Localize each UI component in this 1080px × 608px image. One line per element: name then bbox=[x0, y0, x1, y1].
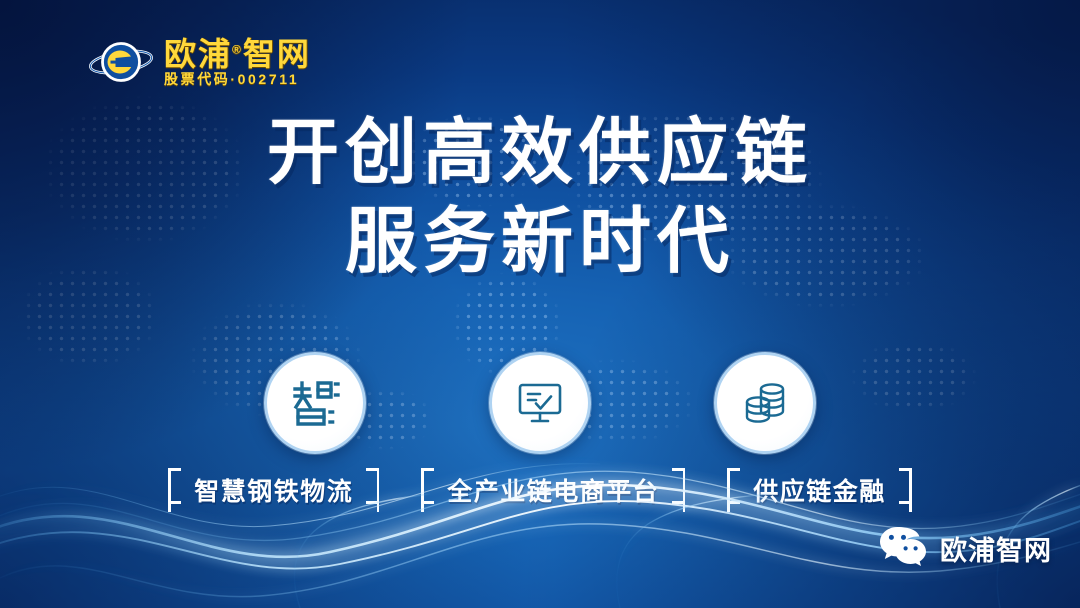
wechat-account[interactable]: 欧浦智网 bbox=[878, 525, 1052, 572]
headline-line-2: 服务新时代 bbox=[0, 205, 1080, 280]
brand-logo-text: 欧浦®智网 股票代码·002711 bbox=[164, 38, 311, 86]
promo-poster: 欧浦®智网 股票代码·002711 开创高效供应链 服务新时代 bbox=[0, 0, 1080, 608]
bracket-left-icon bbox=[727, 468, 742, 512]
wechat-logo-icon bbox=[878, 525, 928, 572]
wechat-account-name: 欧浦智网 bbox=[940, 529, 1052, 568]
brand-logo[interactable]: 欧浦®智网 股票代码·002711 bbox=[88, 34, 311, 90]
registered-mark: ® bbox=[232, 42, 243, 56]
brand-name-part1: 欧浦 bbox=[164, 36, 232, 72]
pillar-icon-circle bbox=[489, 352, 591, 454]
pillar-label-text: 智慧钢铁物流 bbox=[194, 472, 353, 508]
bracket-right-icon bbox=[897, 468, 912, 512]
coin-stack-icon bbox=[739, 377, 791, 429]
pillar-logistics[interactable] bbox=[267, 352, 363, 454]
headline-line-1: 开创高效供应链 bbox=[0, 116, 1080, 191]
glowing-wave-ribbons bbox=[0, 428, 1080, 608]
pillar-label-logistics[interactable]: 智慧钢铁物流 bbox=[168, 468, 379, 512]
brand-name: 欧浦®智网 bbox=[164, 38, 311, 70]
pillar-label-text: 供应链金融 bbox=[753, 472, 886, 508]
bracket-left-icon bbox=[168, 468, 183, 512]
brand-name-part2: 智网 bbox=[243, 36, 311, 72]
zhi-character-icon bbox=[288, 376, 342, 430]
orbit-e-logo-icon bbox=[88, 34, 154, 90]
pillar-icon-circle bbox=[264, 352, 366, 454]
stock-code: 股票代码·002711 bbox=[164, 72, 311, 86]
bracket-right-icon bbox=[670, 468, 685, 512]
monitor-checkmark-icon bbox=[514, 377, 566, 429]
pillar-label-finance[interactable]: 供应链金融 bbox=[727, 468, 912, 512]
pillar-finance[interactable] bbox=[717, 352, 813, 454]
pillar-label-ecommerce[interactable]: 全产业链电商平台 bbox=[421, 468, 685, 512]
service-pillars bbox=[0, 352, 1080, 454]
bracket-left-icon bbox=[421, 468, 436, 512]
pillar-label-text: 全产业链电商平台 bbox=[447, 472, 659, 508]
pillar-icon-circle bbox=[714, 352, 816, 454]
background-vignette bbox=[0, 0, 1080, 608]
headline: 开创高效供应链 服务新时代 bbox=[0, 116, 1080, 280]
pillar-labels: 智慧钢铁物流 全产业链电商平台 供应链金融 bbox=[0, 468, 1080, 512]
bracket-right-icon bbox=[364, 468, 379, 512]
pillar-ecommerce[interactable] bbox=[492, 352, 588, 454]
